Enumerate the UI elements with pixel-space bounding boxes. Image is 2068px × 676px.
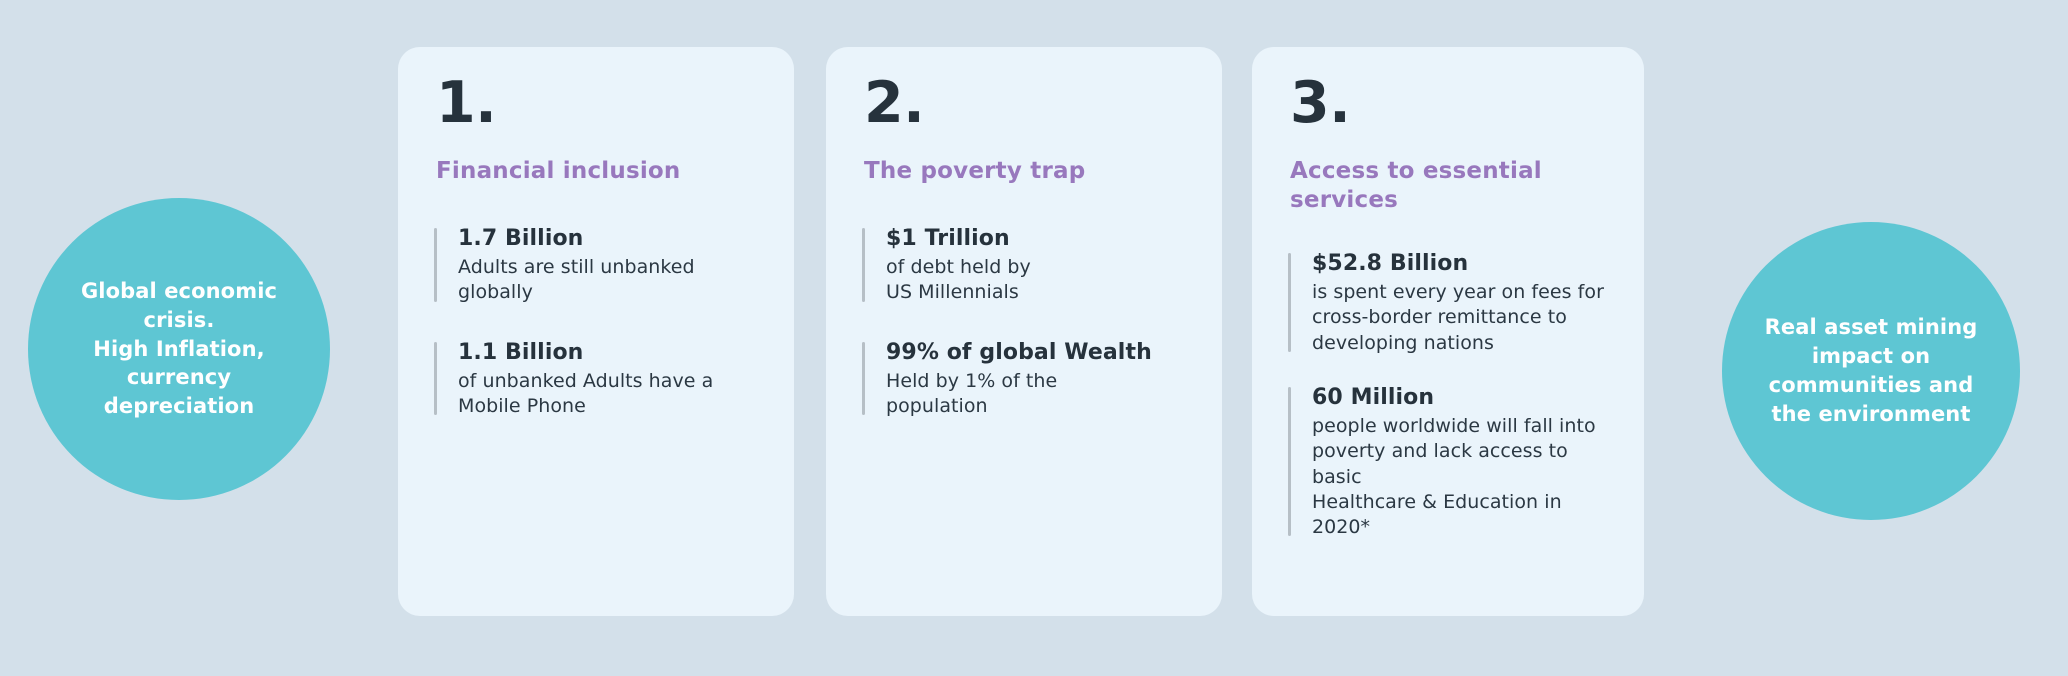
stat-value: 60 Million <box>1312 384 1608 412</box>
accent-bar-icon <box>862 228 865 302</box>
stat-item: $52.8 Billion is spent every year on fee… <box>1288 250 1608 356</box>
stat-description: Adults are still unbanked globally <box>458 255 758 306</box>
card-stat-list: 1.7 Billion Adults are still unbanked gl… <box>434 225 758 419</box>
stat-value: 99% of global Wealth <box>886 339 1186 367</box>
card-number: 3. <box>1290 75 1608 143</box>
stat-item: 1.1 Billion of unbanked Adults have a Mo… <box>434 339 758 420</box>
card-number: 2. <box>864 75 1186 143</box>
stat-description: people worldwide will fall into poverty … <box>1312 414 1608 540</box>
card-access-essential-services[interactable]: 3. Access to essential services $52.8 Bi… <box>1252 47 1644 616</box>
accent-bar-icon <box>434 342 437 416</box>
stat-value: 1.7 Billion <box>458 225 758 253</box>
stat-description: of debt held by US Millennials <box>886 255 1186 306</box>
card-stat-list: $52.8 Billion is spent every year on fee… <box>1288 250 1608 540</box>
card-title: Access to essential services <box>1290 157 1608 216</box>
stat-value: $52.8 Billion <box>1312 250 1608 278</box>
accent-bar-icon <box>862 342 865 416</box>
stat-description: is spent every year on fees for cross-bo… <box>1312 280 1608 356</box>
card-title: Financial inclusion <box>436 157 758 187</box>
problem-circle-right: Real asset mining impact on communities … <box>1722 222 2020 520</box>
accent-bar-icon <box>1288 253 1291 352</box>
accent-bar-icon <box>1288 387 1291 536</box>
stat-value: 1.1 Billion <box>458 339 758 367</box>
stat-item: $1 Trillion of debt held by US Millennia… <box>862 225 1186 306</box>
stat-description: of unbanked Adults have a Mobile Phone <box>458 369 758 420</box>
card-stat-list: $1 Trillion of debt held by US Millennia… <box>862 225 1186 419</box>
card-financial-inclusion[interactable]: 1. Financial inclusion 1.7 Billion Adult… <box>398 47 794 616</box>
stat-item: 99% of global Wealth Held by 1% of the p… <box>862 339 1186 420</box>
stat-item: 60 Million people worldwide will fall in… <box>1288 384 1608 540</box>
stat-value: $1 Trillion <box>886 225 1186 253</box>
card-poverty-trap[interactable]: 2. The poverty trap $1 Trillion of debt … <box>826 47 1222 616</box>
card-title: The poverty trap <box>864 157 1186 187</box>
stat-item: 1.7 Billion Adults are still unbanked gl… <box>434 225 758 306</box>
accent-bar-icon <box>434 228 437 302</box>
problem-circle-right-text: Real asset mining impact on communities … <box>1722 313 2020 428</box>
problem-circle-left: Global economic crisis. High Inflation, … <box>28 198 330 500</box>
stat-description: Held by 1% of the population <box>886 369 1186 420</box>
infographic-canvas: Global economic crisis. High Inflation, … <box>0 0 2068 676</box>
card-number: 1. <box>436 75 758 143</box>
problem-circle-left-text: Global economic crisis. High Inflation, … <box>28 277 330 421</box>
